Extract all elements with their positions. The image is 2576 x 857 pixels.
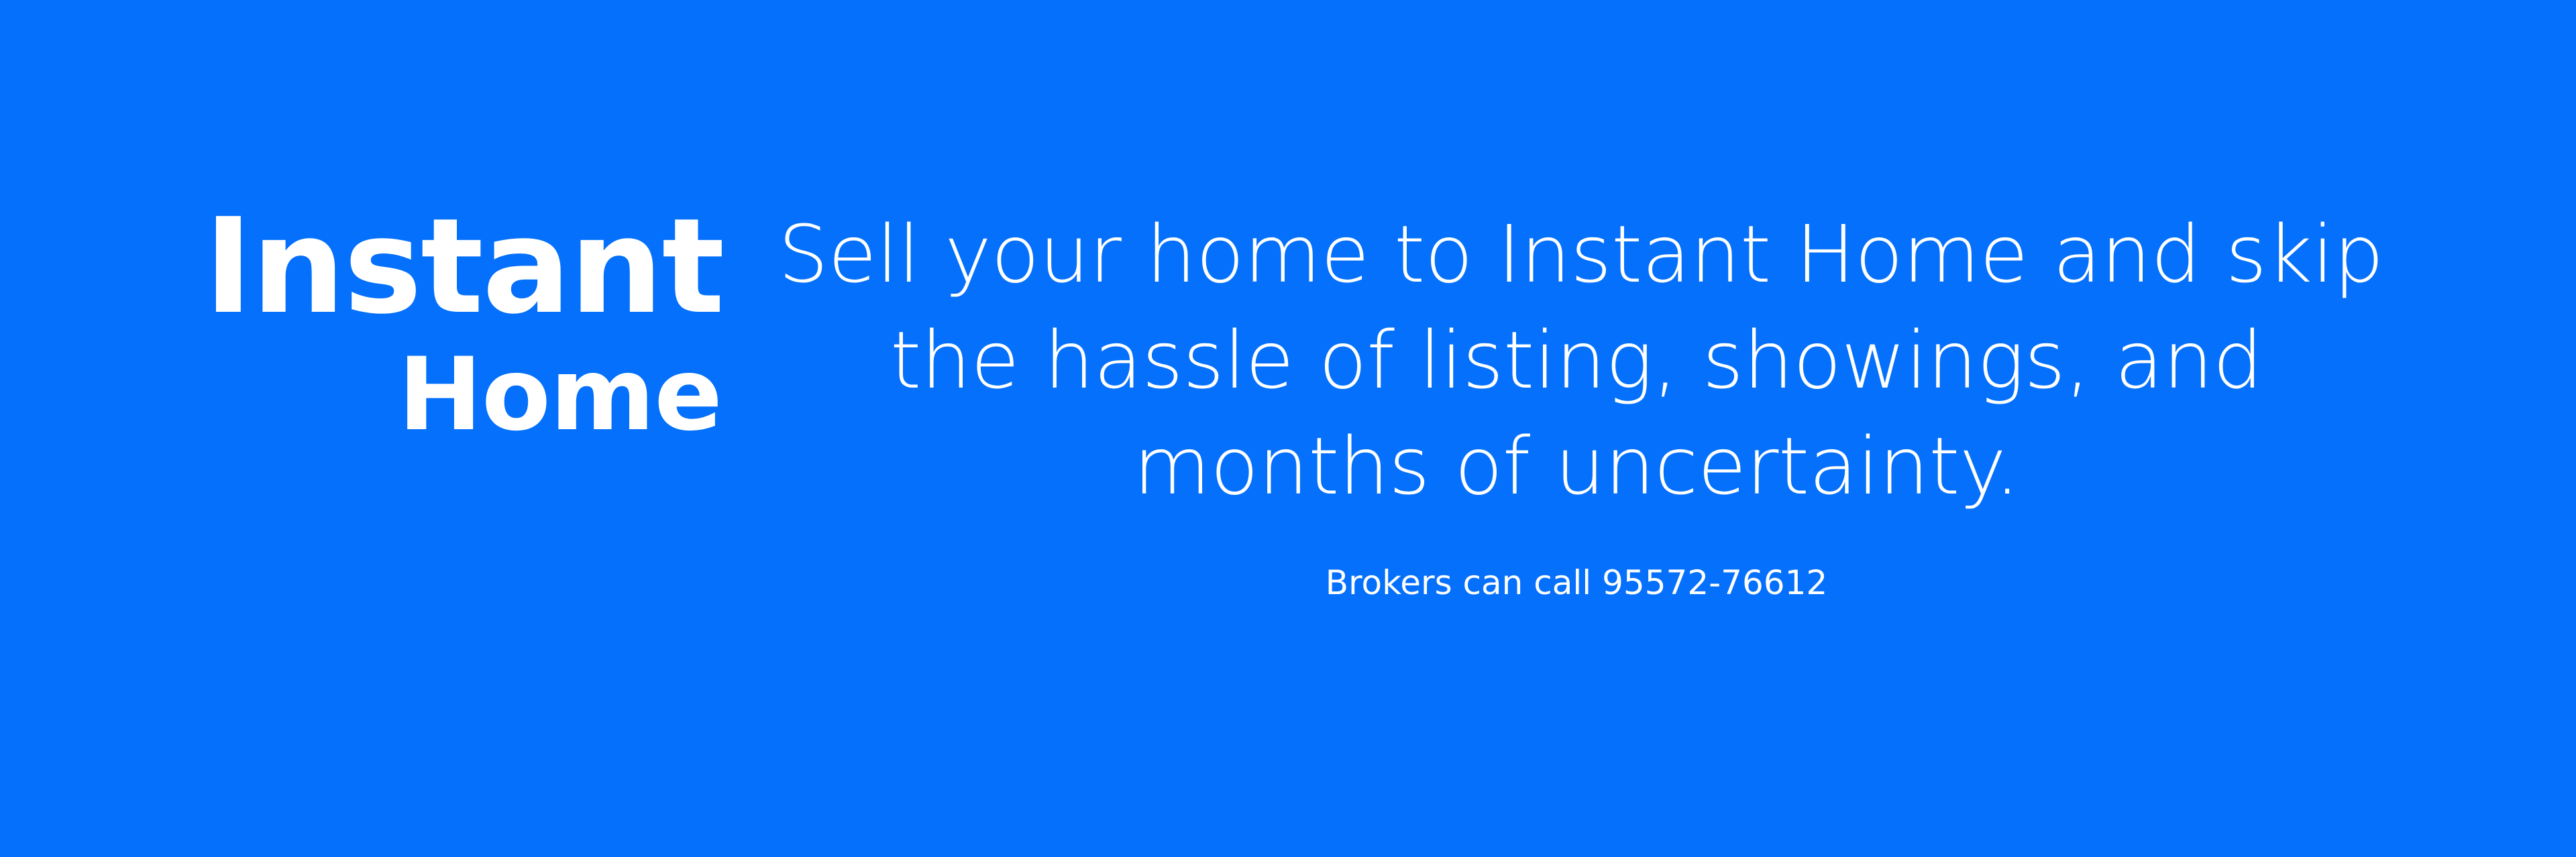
headline-line-1: Sell your home to Instant Home and skip [778, 201, 2375, 307]
marketing-copy: Sell your home to Instant Home and skip … [778, 201, 2375, 602]
promo-banner: Instant Home Sell your home to Instant H… [0, 0, 2576, 857]
headline-line-2: the hassle of listing, showings, and [778, 307, 2375, 413]
brand-name-line-1: Instant [204, 201, 724, 333]
headline-line-3: months of uncertainty. [778, 413, 2375, 519]
broker-contact-text: Brokers can call 95572-76612 [778, 519, 2375, 602]
brand-logo: Instant Home [201, 201, 724, 445]
brand-name-line-2: Home [201, 345, 724, 445]
headline: Sell your home to Instant Home and skip … [778, 201, 2375, 519]
